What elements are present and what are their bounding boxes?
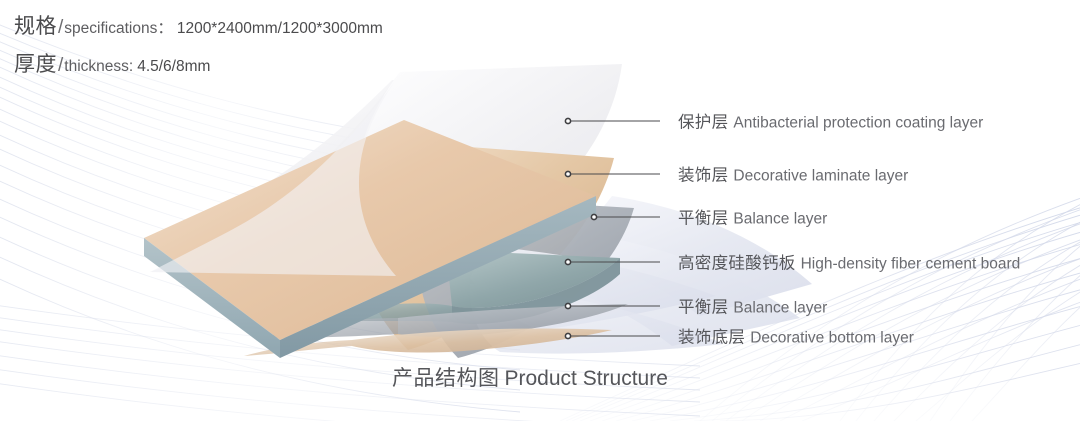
spec-label-cn: 规格 [14,15,57,38]
callout-cn: 平衡层 [678,210,728,228]
callout-en: Decorative bottom layer [745,330,914,347]
spec-label-cn: 厚度 [14,53,57,76]
spec-value: 1200*2400mm/1200*3000mm [173,20,383,37]
spec-label-en: specifications： [64,20,173,37]
callout-cn: 高密度硅酸钙板 [678,255,796,273]
figure-caption: 产品结构图Product Structure [392,368,668,389]
callout-label-balance-lower: 平衡层Balance layer [678,300,827,317]
spec-row-specifications: 规格/specifications：1200*2400mm/1200*3000m… [14,16,383,37]
leader-dot-balance-upper [591,214,596,219]
callout-cn: 装饰底层 [678,329,745,347]
callout-en: Balance layer [728,300,827,317]
callout-label-balance-upper: 平衡层Balance layer [678,211,827,228]
callout-cn: 保护层 [678,114,728,132]
callout-label-fiber-cement: 高密度硅酸钙板High-density fiber cement board [678,256,1020,273]
leader-dot-decorative-bottom [565,333,570,338]
callout-en: Balance layer [728,211,827,228]
spec-row-thickness: 厚度/thickness:4.5/6/8mm [14,54,210,75]
product-structure-figure: 规格/specifications：1200*2400mm/1200*3000m… [0,0,1080,421]
leader-dot-balance-lower [565,303,570,308]
caption-en: Product Structure [500,367,668,390]
callout-cn: 平衡层 [678,299,728,317]
leader-dot-decorative-laminate [565,171,570,176]
leader-dot-fiber-cement [565,259,570,264]
callout-label-decorative-laminate: 装饰层Decorative laminate layer [678,168,908,185]
callout-en: Decorative laminate layer [728,168,908,185]
callout-label-decorative-bottom: 装饰底层Decorative bottom layer [678,330,914,347]
caption-cn: 产品结构图 [392,367,500,390]
callout-label-protection: 保护层Antibacterial protection coating laye… [678,115,983,132]
callout-en: Antibacterial protection coating layer [728,115,983,132]
callout-en: High-density fiber cement board [796,256,1021,273]
leader-dot-protection [565,118,570,123]
spec-value: 4.5/6/8mm [133,58,210,75]
spec-label-en: thickness: [64,58,133,75]
callout-cn: 装饰层 [678,167,728,185]
